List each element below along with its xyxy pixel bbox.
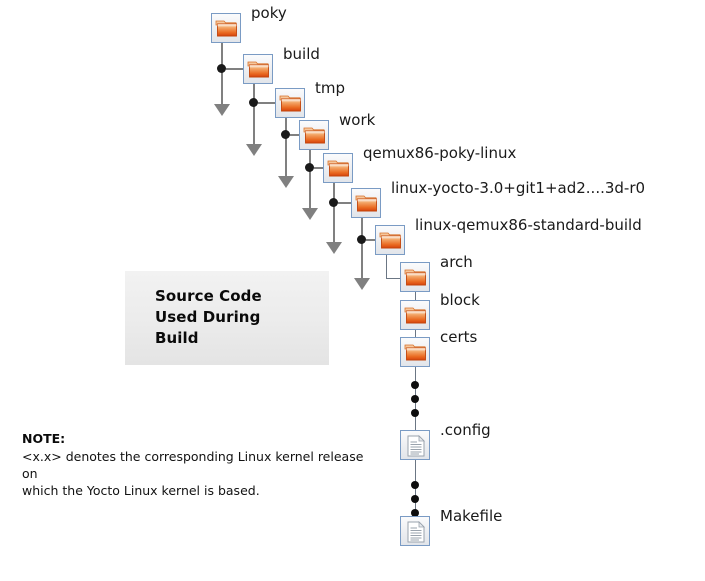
source-code-callout-box: Source Code Used During Build [125,271,329,365]
arrow-linuxyocto-down [354,278,370,290]
callout-line-1: Source Code [155,286,262,307]
tree-node-label: poky [251,5,287,21]
junction-dot-qemux86 [329,198,338,207]
arrow-build-down [246,144,262,156]
ellipsis-dot [411,381,419,389]
note-title: NOTE: [22,431,382,447]
ellipsis-dot [411,395,419,403]
folder-icon [400,300,430,330]
folder-icon [299,120,329,150]
note-body: <x.x> denotes the corresponding Linux ke… [22,448,382,499]
tree-node-label: .config [440,422,491,438]
document-icon [400,430,430,460]
folder-icon [275,88,305,118]
note-line-1: <x.x> denotes the corresponding Linux ke… [22,449,363,481]
connector-poky-vertical [221,43,223,106]
connector-linuxyocto-vertical [361,218,363,280]
junction-dot-poky [217,64,226,73]
arrow-tmp-down [278,176,294,188]
connector-tmp-vertical [285,118,287,178]
tree-node-label: tmp [315,80,345,96]
folder-icon [400,337,430,367]
arrow-poky-down [214,104,230,116]
connector-work-vertical [309,150,311,210]
tree-node-label: certs [440,329,477,345]
folder-icon [400,262,430,292]
tree-node-label: block [440,292,480,308]
tree-node-label: linux-yocto-3.0+git1+ad2....3d-r0 [391,180,645,196]
callout-line-3: Build [155,328,262,349]
connector-standardbuild-elbow-vertical [386,255,387,279]
callout-line-2: Used During [155,307,262,328]
junction-dot-tmp [281,130,290,139]
diagram-canvas: poky build tmp [0,0,705,581]
connector-build-vertical [253,84,255,146]
tree-node-label: build [283,46,320,62]
ellipsis-dot [411,481,419,489]
folder-icon [323,153,353,183]
note-block: NOTE: <x.x> denotes the corresponding Li… [22,431,382,499]
folder-icon [351,188,381,218]
junction-dot-work [305,163,314,172]
folder-icon [211,13,241,43]
arrow-qemux86-down [326,242,342,254]
folder-icon [243,54,273,84]
tree-node-label: arch [440,254,473,270]
ellipsis-dot [411,495,419,503]
folder-icon [375,225,405,255]
tree-node-label: linux-qemux86-standard-build [415,217,642,233]
arrow-work-down [302,208,318,220]
document-icon [400,516,430,546]
connector-qemux86-vertical [333,183,335,244]
junction-dot-build [249,98,258,107]
tree-node-label: work [339,112,375,128]
junction-dot-linuxyocto [357,235,366,244]
tree-node-label: qemux86-poky-linux [363,145,516,161]
ellipsis-dot [411,409,419,417]
tree-node-label: Makefile [440,508,502,524]
source-code-callout-text: Source Code Used During Build [155,286,262,349]
note-line-2: which the Yocto Linux kernel is based. [22,483,260,498]
